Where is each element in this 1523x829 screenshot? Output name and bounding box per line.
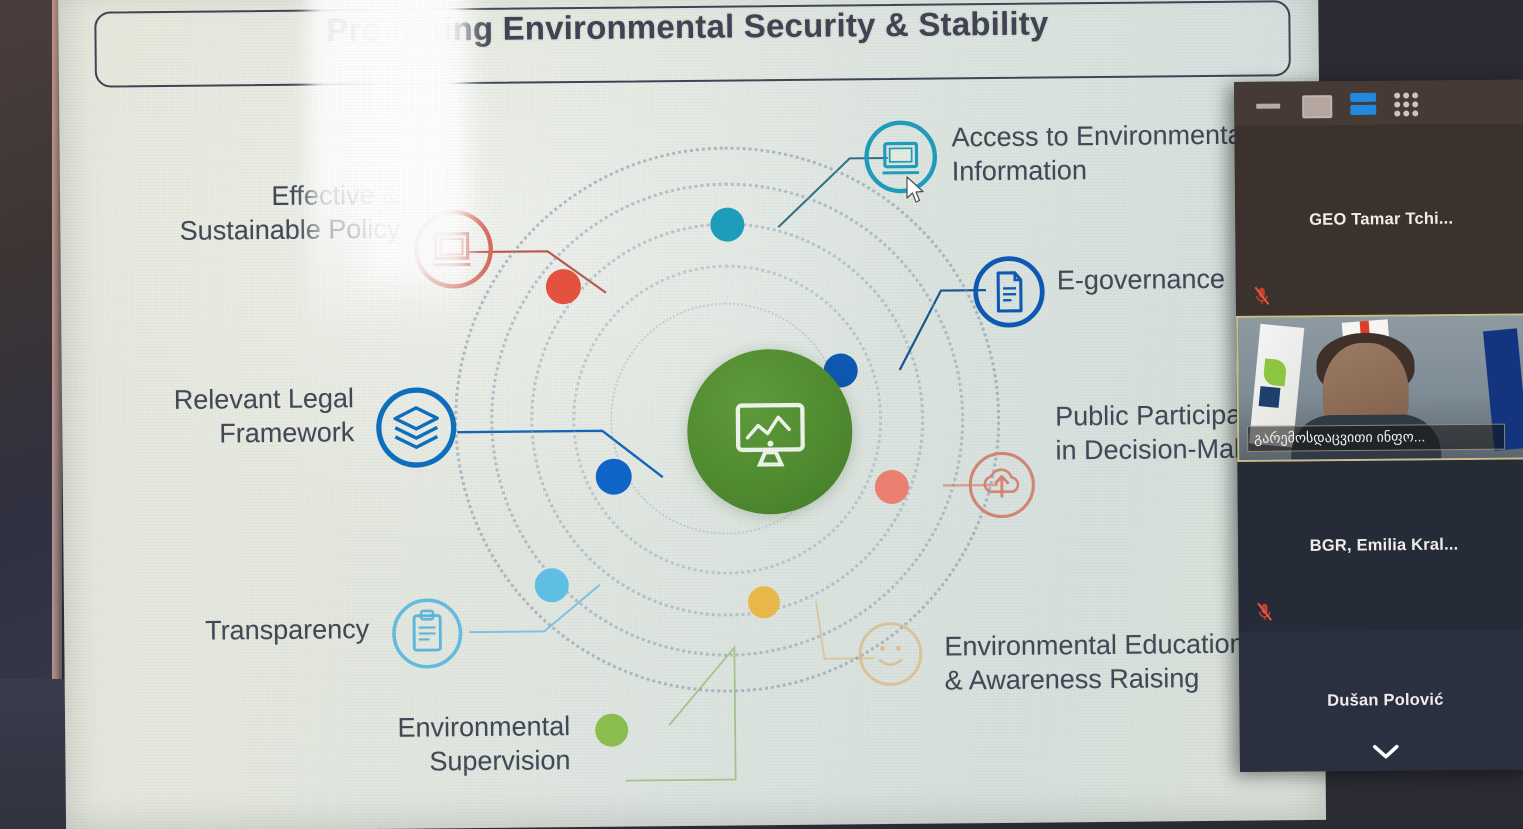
- smiley-icon: [854, 618, 927, 691]
- label-line-2: Supervision: [215, 743, 570, 780]
- participant-tile[interactable]: GEO Tamar Tchi...: [1234, 123, 1523, 316]
- label-environmental-supervision: Environmental Supervision: [215, 709, 571, 780]
- center-hub: [687, 348, 854, 515]
- label-line-2: Information: [952, 151, 1282, 188]
- monitor-chart-icon: [726, 388, 813, 475]
- presentation-slide: Promoting Environmental Security & Stabi…: [58, 0, 1326, 829]
- microphone-muted-icon: [1254, 286, 1270, 306]
- label-line-1: Effective &: [60, 178, 400, 215]
- layers-icon: [374, 385, 459, 470]
- label-line-2: Sustainable Policy: [60, 212, 400, 249]
- node-relevant-legal-framework[interactable]: [374, 385, 459, 470]
- orbit-dot-blue-left: [596, 459, 632, 495]
- minimize-icon[interactable]: [1256, 104, 1280, 109]
- label-relevant-legal-framework: Relevant Legal Framework: [62, 381, 355, 452]
- participant-tile-active-speaker[interactable]: გარემოსდაცვითი ინფო...: [1236, 313, 1523, 462]
- document-icon: [971, 254, 1048, 331]
- monitor-icon: [861, 118, 940, 197]
- node-public-participation-in-decision-making[interactable]: [965, 449, 1038, 522]
- clipboard-icon: [389, 595, 466, 672]
- node-environmental-education-awareness[interactable]: [854, 618, 927, 691]
- video-conference-panel: GEO Tamar Tchi... გარემოსდაცვითი ინფო...: [1234, 79, 1523, 772]
- mouse-cursor-icon: [905, 176, 927, 206]
- cloud-upload-icon: [965, 449, 1038, 522]
- label-line-1: Relevant Legal: [62, 381, 354, 418]
- node-transparency[interactable]: [389, 595, 466, 672]
- participant-name: Dušan Polović: [1239, 690, 1523, 712]
- participant-caption: გარემოსდაცვითი ინფო...: [1247, 424, 1505, 452]
- speaker-view-icon[interactable]: [1350, 93, 1376, 117]
- orbit-dot-red: [546, 269, 581, 304]
- orbit-dot-teal: [710, 207, 744, 241]
- node-e-governance[interactable]: [971, 254, 1048, 331]
- node-access-to-environmental-information[interactable]: [861, 118, 940, 197]
- page-title: Promoting Environmental Security & Stabi…: [326, 4, 1146, 50]
- label-line-1: Environmental: [215, 709, 570, 746]
- participant-name: GEO Tamar Tchi...: [1235, 209, 1523, 231]
- label-line-1: Access to Environmental: [951, 117, 1281, 154]
- monitor-icon: [412, 208, 495, 291]
- maximize-icon[interactable]: [1302, 95, 1332, 118]
- label-effective-sustainable-policy: Effective & Sustainable Policy: [60, 178, 401, 249]
- participant-tile[interactable]: Dušan Polović: [1239, 629, 1523, 772]
- screenshot-root: Promoting Environmental Security & Stabi…: [0, 0, 1523, 829]
- orbit-dot-salmon: [875, 470, 909, 504]
- label-line-1: Transparency: [64, 612, 369, 649]
- participant-tile[interactable]: BGR, Emilia Kral...: [1237, 459, 1523, 632]
- participant-name: BGR, Emilia Kral...: [1238, 535, 1523, 557]
- label-access-to-environmental-information: Access to Environmental Information: [951, 117, 1282, 188]
- microphone-muted-icon: [1257, 602, 1273, 622]
- gallery-view-icon[interactable]: [1394, 92, 1418, 116]
- chevron-down-icon[interactable]: [1371, 743, 1401, 761]
- node-effective-sustainable-policy[interactable]: [412, 208, 495, 291]
- orbit-dot-green: [595, 714, 628, 747]
- orbit-dot-lightblue: [535, 568, 569, 602]
- label-line-2: Framework: [62, 415, 354, 452]
- label-transparency: Transparency: [64, 612, 369, 649]
- orbit-dot-yellow: [748, 586, 780, 618]
- video-panel-toolbar: [1234, 79, 1523, 126]
